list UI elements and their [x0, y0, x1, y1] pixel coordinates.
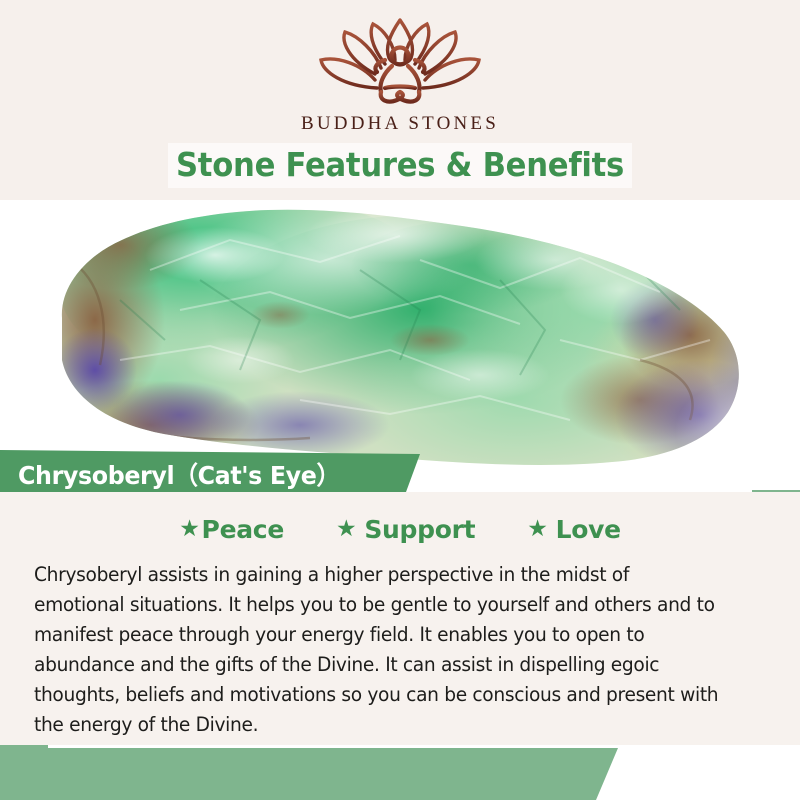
- brand-logo: BUDDHA STONES: [0, 16, 800, 135]
- keyword-love-label: Love: [556, 515, 621, 544]
- card-header: BUDDHA STONES Stone Features & Benefits: [0, 0, 800, 200]
- page-title: Stone Features & Benefits: [28, 145, 772, 184]
- keyword-support-label: Support: [364, 515, 475, 544]
- keyword-support: ★ Support: [336, 515, 475, 544]
- stone-info-card: BUDDHA STONES Stone Features & Benefits: [0, 0, 800, 800]
- stone-photo: [0, 200, 800, 490]
- stone-description: Chrysoberyl assists in gaining a higher …: [34, 560, 724, 740]
- star-icon: ★: [527, 518, 547, 541]
- keyword-peace: ★ Peace: [179, 515, 284, 544]
- star-icon: ★: [336, 518, 356, 541]
- stone-photo-graphic: [0, 200, 800, 490]
- frame-bottom-accent: [0, 748, 618, 800]
- lotus-meditation-icon: [315, 16, 485, 111]
- keyword-love: ★ Love: [527, 515, 621, 544]
- keyword-list: ★ Peace ★ Support ★ Love: [50, 515, 750, 544]
- brand-name: BUDDHA STONES: [0, 113, 800, 135]
- star-icon: ★: [179, 518, 199, 541]
- stone-name-label: Chrysoberyl（Cat's Eye）: [18, 456, 340, 492]
- keyword-peace-label: Peace: [202, 515, 284, 544]
